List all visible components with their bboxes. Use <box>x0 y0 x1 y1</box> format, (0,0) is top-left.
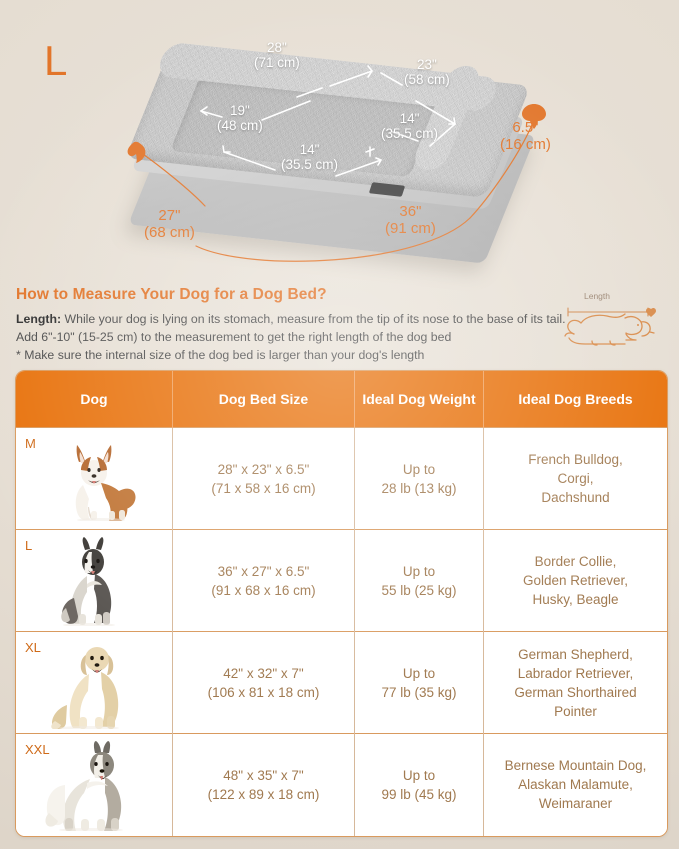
dog-photo-border-collie <box>39 536 149 626</box>
size-chart-table: Dog Dog Bed Size Ideal Dog Weight Ideal … <box>15 370 668 837</box>
cell-breeds-xxl: Bernese Mountain Dog, Alaskan Malamute, … <box>484 734 668 836</box>
breed-line: German Shorthaired <box>514 685 636 700</box>
breed-line: Labrador Retriever, <box>518 666 634 681</box>
cell-dog-xxl: XXL <box>16 734 173 836</box>
cell-bed-size-xl: 42" x 32" x 7" (106 x 81 x 18 cm) <box>173 632 355 734</box>
dog-length-diagram-label: Length <box>584 291 610 301</box>
table-head: Dog Dog Bed Size Ideal Dog Weight Ideal … <box>16 371 667 428</box>
bed-size-imperial: 36" x 27" x 6.5" <box>218 564 310 579</box>
cell-breeds-m: French Bulldog, Corgi, Dachshund <box>484 428 668 530</box>
bed-size-metric: (106 x 81 x 18 cm) <box>208 685 320 700</box>
weight-line-2: 28 lb (13 kg) <box>381 481 456 496</box>
table-row: L <box>16 530 667 632</box>
cell-weight-xxl: Up to 99 lb (45 kg) <box>355 734 484 836</box>
breed-line: Weimaraner <box>539 796 612 811</box>
bed-size-metric: (122 x 89 x 18 cm) <box>208 787 320 802</box>
dog-photo-corgi <box>39 437 149 521</box>
how-to-measure-section: How to Measure Your Dog for a Dog Bed? L… <box>16 286 664 365</box>
dog-photo-malamute <box>35 739 153 831</box>
cell-breeds-l: Border Collie, Golden Retriever, Husky, … <box>484 530 668 632</box>
dog-photo-labrador <box>37 637 151 729</box>
weight-line-1: Up to <box>403 564 435 579</box>
dog-length-diagram: Length <box>562 294 658 354</box>
cell-dog-l: L <box>16 530 173 632</box>
breed-line: Alaskan Malamute, <box>518 777 633 792</box>
pin-marker <box>128 104 546 163</box>
breed-line: Golden Retriever, <box>523 573 628 588</box>
size-label-l: L <box>25 536 32 555</box>
bed-size-metric: (91 x 68 x 16 cm) <box>211 583 315 598</box>
measure-body-label: Length: <box>16 312 61 326</box>
size-label-m: M <box>25 434 36 453</box>
dimension-label-27in: 27" (68 cm) <box>144 207 195 241</box>
size-chart: Dog Dog Bed Size Ideal Dog Weight Ideal … <box>16 371 667 836</box>
measure-body: Length: While your dog is lying on its s… <box>16 311 568 346</box>
breed-line: French Bulldog, <box>528 452 623 467</box>
size-label-xl: XL <box>25 638 41 657</box>
table-row: M <box>16 428 667 530</box>
measure-note: * Make sure the internal size of the dog… <box>16 347 568 365</box>
breed-line: Pointer <box>554 704 597 719</box>
weight-line-1: Up to <box>403 768 435 783</box>
cell-dog-m: M <box>16 428 173 530</box>
col-header-dog: Dog <box>16 371 173 428</box>
weight-line-2: 99 lb (45 kg) <box>381 787 456 802</box>
external-dimension-lines <box>0 0 679 268</box>
cell-bed-size-m: 28" x 23" x 6.5" (71 x 58 x 16 cm) <box>173 428 355 530</box>
weight-line-1: Up to <box>403 462 435 477</box>
dimension-label-36in: 36" (91 cm) <box>385 203 436 237</box>
cell-weight-xl: Up to 77 lb (35 kg) <box>355 632 484 734</box>
col-header-bed-size: Dog Bed Size <box>173 371 355 428</box>
bed-size-imperial: 28" x 23" x 6.5" <box>218 462 310 477</box>
col-header-weight: Ideal Dog Weight <box>355 371 484 428</box>
bed-size-imperial: 42" x 32" x 7" <box>223 666 303 681</box>
weight-line-1: Up to <box>403 666 435 681</box>
infographic-page: L <box>0 0 679 849</box>
breed-line: Corgi, <box>557 471 593 486</box>
weight-line-2: 77 lb (35 kg) <box>381 685 456 700</box>
breed-line: German Shepherd, <box>518 647 633 662</box>
cell-bed-size-l: 36" x 27" x 6.5" (91 x 68 x 16 cm) <box>173 530 355 632</box>
weight-line-2: 55 lb (25 kg) <box>381 583 456 598</box>
breed-line: Bernese Mountain Dog, <box>505 758 647 773</box>
cell-dog-xl: XL <box>16 632 173 734</box>
breed-line: Border Collie, <box>535 554 617 569</box>
measure-body-line1: While your dog is lying on its stomach, … <box>61 312 513 326</box>
size-label-xxl: XXL <box>25 740 50 759</box>
hero-product-section: L <box>0 0 679 268</box>
bed-size-metric: (71 x 58 x 16 cm) <box>211 481 315 496</box>
table-body: M <box>16 428 667 836</box>
table-row: XXL <box>16 734 667 836</box>
cell-bed-size-xxl: 48" x 35" x 7" (122 x 89 x 18 cm) <box>173 734 355 836</box>
table-row: XL <box>16 632 667 734</box>
dog-outline-icon <box>562 294 658 354</box>
cell-weight-m: Up to 28 lb (13 kg) <box>355 428 484 530</box>
cell-breeds-xl: German Shepherd, Labrador Retriever, Ger… <box>484 632 668 734</box>
bed-size-imperial: 48" x 35" x 7" <box>223 768 303 783</box>
col-header-breeds: Ideal Dog Breeds <box>484 371 668 428</box>
dimension-label-6in5: 6.5" (16 cm) <box>500 119 551 153</box>
cell-weight-l: Up to 55 lb (25 kg) <box>355 530 484 632</box>
breed-line: Dachshund <box>541 490 609 505</box>
table-header-row: Dog Dog Bed Size Ideal Dog Weight Ideal … <box>16 371 667 428</box>
breed-line: Husky, Beagle <box>532 592 618 607</box>
